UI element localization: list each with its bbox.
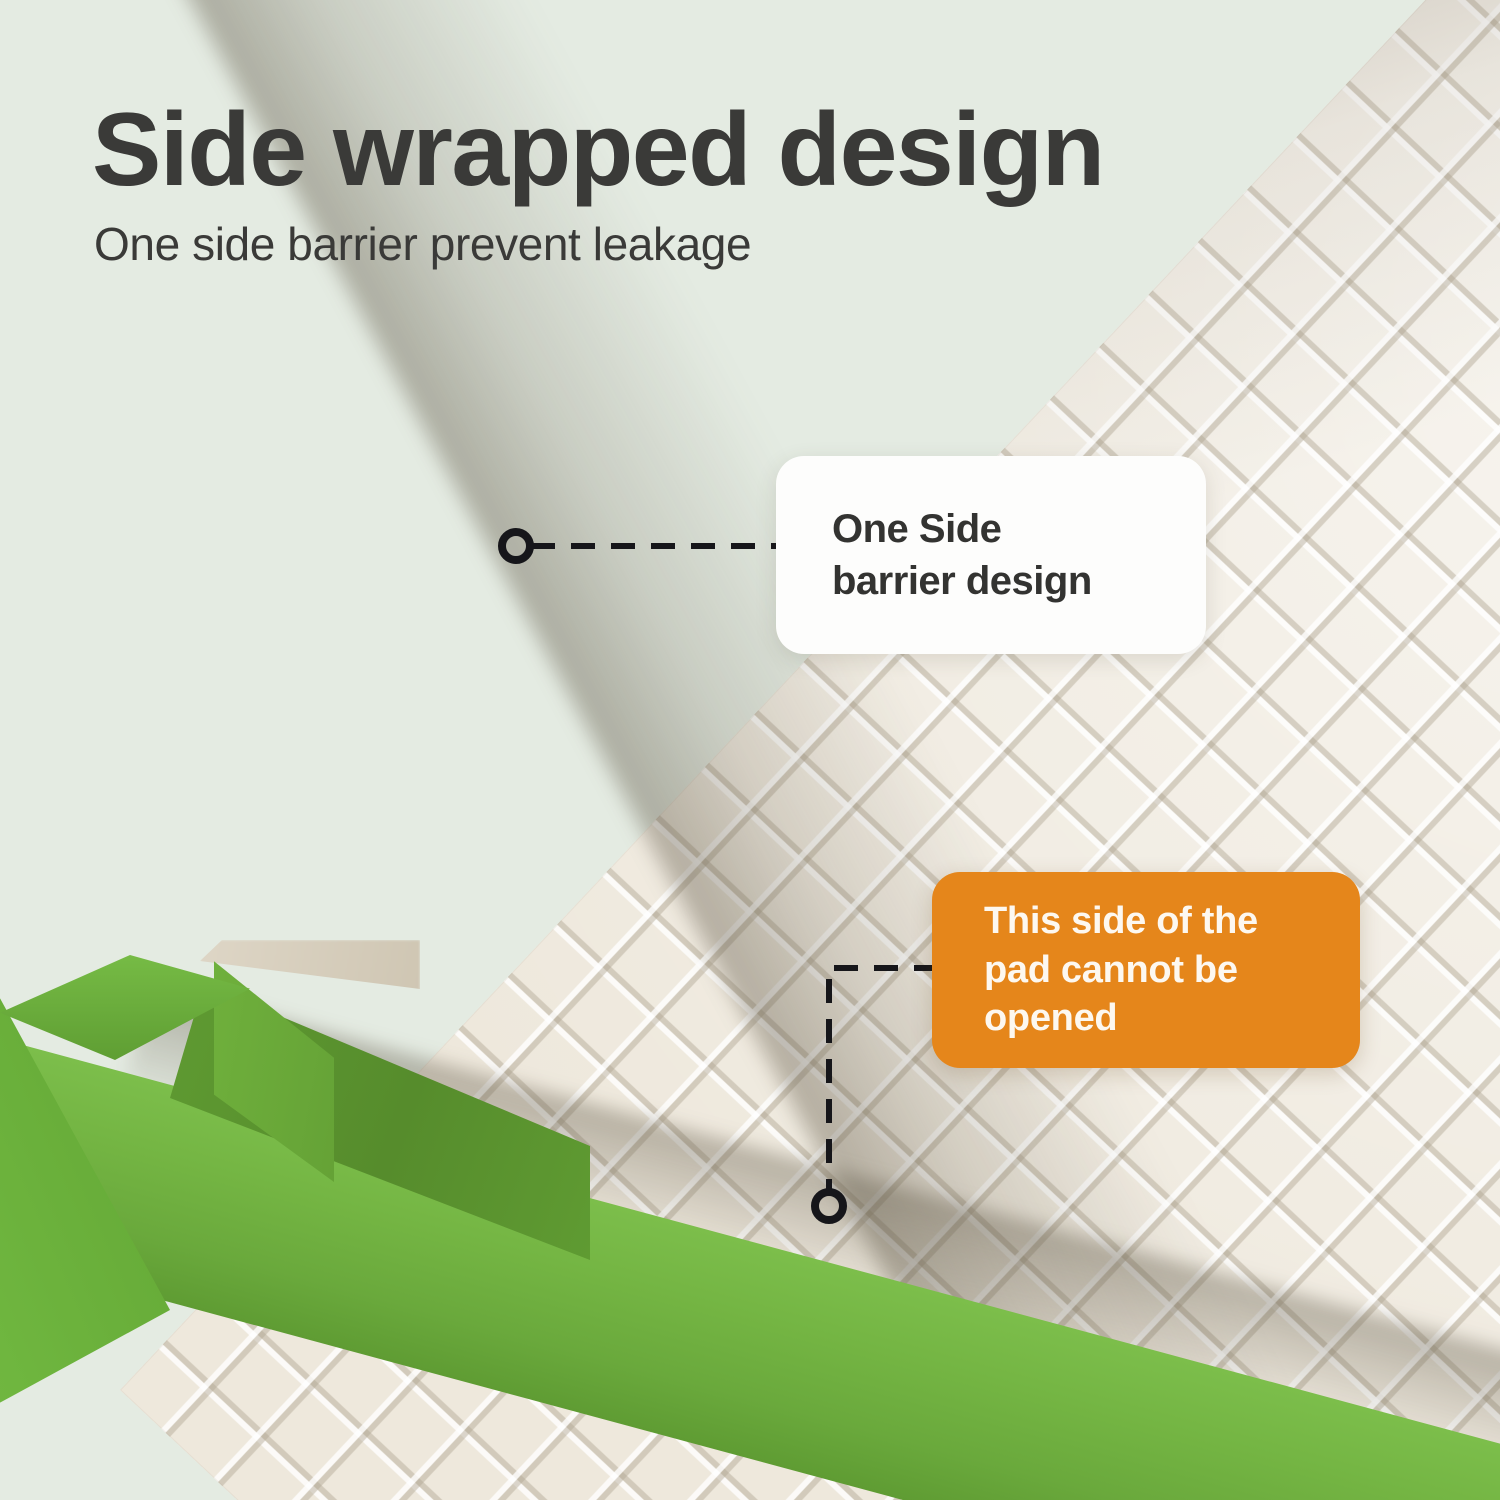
infographic-canvas: Side wrapped design One side barrier pre… <box>0 0 1500 1500</box>
callout-line: opened <box>984 994 1308 1043</box>
page-subtitle: One side barrier prevent leakage <box>94 219 1192 270</box>
callout-one-side-barrier: One Side barrier design <box>776 456 1206 654</box>
headline-block: Side wrapped design One side barrier pre… <box>92 96 1192 270</box>
callout-side-cannot-be-opened: This side of the pad cannot be opened <box>932 872 1360 1068</box>
callout-line: This side of the <box>984 897 1308 946</box>
page-title: Side wrapped design <box>92 96 1192 205</box>
callout-line: pad cannot be <box>984 946 1308 995</box>
callout-line: barrier design <box>832 555 1150 607</box>
callout-line: One Side <box>832 503 1150 555</box>
